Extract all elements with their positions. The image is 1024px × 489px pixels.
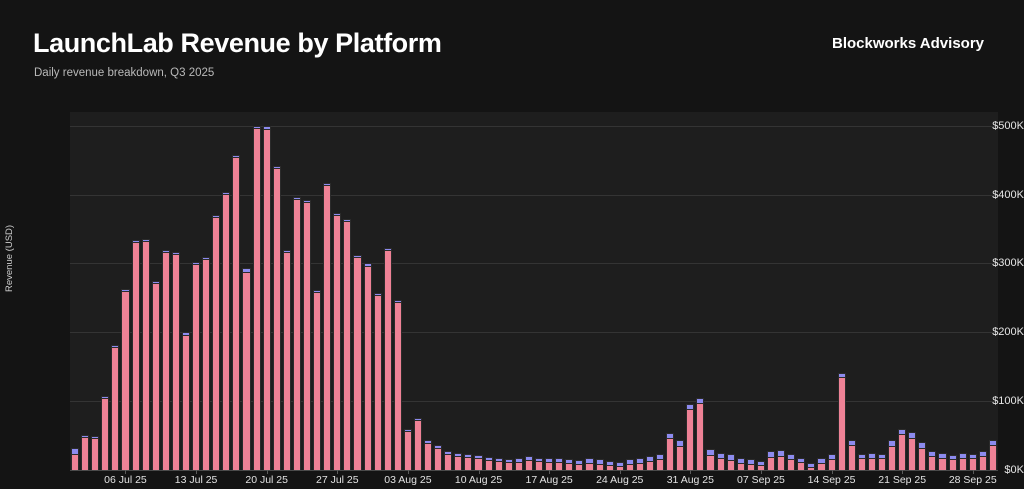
bar-column (464, 454, 472, 470)
bar-column (404, 429, 412, 470)
bar-segment (575, 464, 583, 470)
bar-segment (828, 459, 836, 470)
bar-column (888, 440, 896, 470)
bar-column (384, 248, 392, 470)
bar-column (848, 440, 856, 470)
bar-segment (454, 456, 462, 470)
y-axis-label: Revenue (USD) (4, 225, 15, 292)
bar-column (555, 458, 563, 470)
bar-column (737, 458, 745, 470)
bar-column (969, 453, 977, 470)
bar-column (232, 155, 240, 470)
bar-segment (585, 463, 593, 470)
bar-segment (938, 458, 946, 470)
bar-segment (202, 259, 210, 470)
bar-column (222, 192, 230, 470)
bar-segment (222, 194, 230, 470)
bar-segment (979, 456, 987, 470)
bar-segment (717, 458, 725, 470)
bar-column (424, 440, 432, 470)
bar-segment (132, 242, 140, 470)
bar-segment (555, 462, 563, 470)
bar-column (696, 398, 704, 470)
bar-segment (817, 463, 825, 470)
bar-column (152, 281, 160, 470)
bar-column (717, 453, 725, 470)
bar-column (616, 462, 624, 470)
bar-segment (858, 458, 866, 470)
bar-segment (464, 457, 472, 470)
bar-segment (777, 456, 785, 470)
bar-column (293, 197, 301, 470)
bar-segment (192, 264, 200, 470)
bar-column (162, 250, 170, 470)
bar-column (545, 458, 553, 470)
x-tick-label: 21 Sep 25 (878, 474, 926, 486)
bar-column (928, 451, 936, 470)
bar-column (757, 461, 765, 470)
bar-column (787, 453, 795, 470)
bar-column (172, 252, 180, 470)
bar-segment (374, 295, 382, 470)
bar-column (353, 255, 361, 470)
bar-segment (767, 457, 775, 470)
bar-segment (676, 446, 684, 470)
bar-segment (121, 291, 129, 470)
bar-segment (505, 462, 513, 470)
bar-segment (343, 221, 351, 470)
bar-column (434, 445, 442, 470)
bar-column (676, 440, 684, 470)
x-tick-label: 31 Aug 25 (667, 474, 714, 486)
bar-column (71, 448, 79, 470)
x-tick-label: 14 Sep 25 (808, 474, 856, 486)
bar-segment (928, 456, 936, 470)
bar-column (364, 263, 372, 470)
bar-column (838, 373, 846, 470)
bar-column (585, 458, 593, 470)
bar-column (959, 453, 967, 470)
bar-segment (283, 252, 291, 470)
bar-column (495, 458, 503, 470)
bar-column (938, 453, 946, 470)
bar-segment (848, 445, 856, 470)
bar-column (132, 240, 140, 470)
bar-column (253, 126, 261, 470)
bar-segment (394, 302, 402, 470)
bar-segment (918, 448, 926, 470)
bar-segment (807, 467, 815, 470)
bar-column (242, 268, 250, 470)
bar-column (273, 166, 281, 470)
bar-column (575, 460, 583, 470)
bar-column (212, 215, 220, 470)
bar-column (303, 200, 311, 470)
bar-segment (212, 217, 220, 470)
bar-segment (989, 445, 997, 470)
bar-segment (797, 462, 805, 470)
bar-segment (142, 241, 150, 470)
bar-column (101, 396, 109, 470)
x-tick-label: 10 Aug 25 (455, 474, 502, 486)
bar-segment (404, 431, 412, 470)
bar-segment (596, 464, 604, 470)
bar-column (686, 404, 694, 470)
bar-segment (384, 250, 392, 470)
bar-segment (172, 254, 180, 470)
bar-segment (253, 128, 261, 470)
bar-segment (959, 458, 967, 470)
bar-segment (626, 464, 634, 470)
bar-column (525, 456, 533, 470)
bar-segment (474, 458, 482, 470)
bar-column (979, 451, 987, 470)
bar-segment (424, 443, 432, 470)
bar-segment (91, 438, 99, 470)
x-tick-label: 27 Jul 25 (316, 474, 359, 486)
bar-column (182, 332, 190, 470)
bar-column (91, 436, 99, 470)
bar-column (858, 453, 866, 470)
bar-segment (535, 461, 543, 470)
x-tick-label: 07 Sep 25 (737, 474, 785, 486)
bar-segment (485, 460, 493, 470)
bar-segment (898, 434, 906, 470)
x-tick-label: 20 Jul 25 (245, 474, 288, 486)
bar-column (313, 290, 321, 470)
bar-segment (152, 283, 160, 470)
x-tick-label: 13 Jul 25 (175, 474, 218, 486)
bar-column (192, 262, 200, 470)
bar-segment (323, 185, 331, 470)
bar-segment (444, 454, 452, 471)
bar-segment (434, 448, 442, 470)
bar-segment (908, 438, 916, 470)
bar-column (908, 432, 916, 470)
bar-segment (706, 455, 714, 470)
bar-segment (747, 464, 755, 470)
bar-segment (242, 272, 250, 470)
bar-series-container (70, 112, 998, 470)
bar-column (454, 453, 462, 470)
bar-segment (353, 257, 361, 470)
bar-column (474, 455, 482, 470)
bar-column (535, 458, 543, 470)
bar-segment (656, 459, 664, 470)
x-tick-label: 06 Jul 25 (104, 474, 147, 486)
bar-segment (273, 168, 281, 470)
bar-column (111, 345, 119, 470)
bar-column (656, 453, 664, 470)
bar-column (343, 219, 351, 470)
x-tick-label: 28 Sep 25 (949, 474, 997, 486)
bar-column (989, 440, 997, 470)
bar-column (414, 418, 422, 470)
bar-column (898, 429, 906, 470)
bar-column (666, 433, 674, 470)
bar-column (878, 453, 886, 470)
bar-column (283, 250, 291, 470)
bar-segment (515, 462, 523, 470)
bar-column (646, 456, 654, 470)
bar-segment (111, 347, 119, 470)
bar-segment (686, 409, 694, 470)
bar-segment (232, 157, 240, 470)
bar-column (323, 183, 331, 470)
bar-segment (263, 129, 271, 470)
bar-segment (525, 460, 533, 470)
bar-segment (303, 202, 311, 470)
bar-column (333, 213, 341, 470)
bar-segment (949, 459, 957, 470)
chart-plot-area: $0K$100K$200K$300K$400K$500K Revenue (US… (0, 0, 1024, 489)
bar-segment (727, 460, 735, 470)
bar-segment (101, 398, 109, 470)
bar-segment (182, 335, 190, 470)
bar-column (706, 449, 714, 470)
x-tick-label: 17 Aug 25 (525, 474, 572, 486)
bar-segment (162, 252, 170, 470)
bar-column (505, 459, 513, 470)
bar-column (777, 450, 785, 470)
bar-segment (787, 459, 795, 470)
bar-column (817, 458, 825, 470)
bar-segment (838, 377, 846, 470)
bar-segment (666, 438, 674, 470)
bar-column (394, 300, 402, 470)
bar-segment (737, 463, 745, 470)
bar-column (515, 458, 523, 470)
x-tick-label: 03 Aug 25 (384, 474, 431, 486)
bar-column (727, 454, 735, 470)
bar-column (868, 453, 876, 470)
bar-column (142, 239, 150, 470)
x-tick-label: 24 Aug 25 (596, 474, 643, 486)
bar-segment (878, 458, 886, 470)
bar-column (444, 451, 452, 470)
bar-segment (71, 454, 79, 471)
bar-segment (565, 463, 573, 470)
bar-column (263, 126, 271, 470)
bar-segment (364, 266, 372, 470)
bar-column (747, 459, 755, 470)
bar-column (202, 257, 210, 470)
bar-segment (606, 465, 614, 470)
bar-column (626, 459, 634, 470)
bar-column (606, 461, 614, 470)
bar-column (565, 459, 573, 470)
bar-column (828, 453, 836, 470)
bar-column (949, 455, 957, 470)
bar-segment (293, 199, 301, 470)
bar-column (374, 293, 382, 470)
bar-segment (495, 461, 503, 470)
bar-segment (969, 458, 977, 470)
bar-column (81, 435, 89, 470)
bar-column (797, 458, 805, 470)
bar-column (807, 463, 815, 470)
bar-column (485, 457, 493, 470)
bar-segment (646, 461, 654, 470)
bar-segment (636, 463, 644, 470)
bar-segment (545, 462, 553, 470)
bar-segment (313, 292, 321, 470)
x-axis-line (70, 470, 998, 471)
bar-column (636, 458, 644, 470)
bar-column (918, 442, 926, 470)
bar-segment (888, 446, 896, 470)
bar-column (767, 451, 775, 470)
bar-segment (414, 420, 422, 470)
bar-column (121, 289, 129, 470)
chart-page: LaunchLab Revenue by Platform Daily reve… (0, 0, 1024, 489)
bar-segment (333, 215, 341, 470)
bar-segment (696, 403, 704, 470)
bar-column (596, 459, 604, 470)
bar-segment (81, 437, 89, 470)
bar-segment (868, 458, 876, 470)
